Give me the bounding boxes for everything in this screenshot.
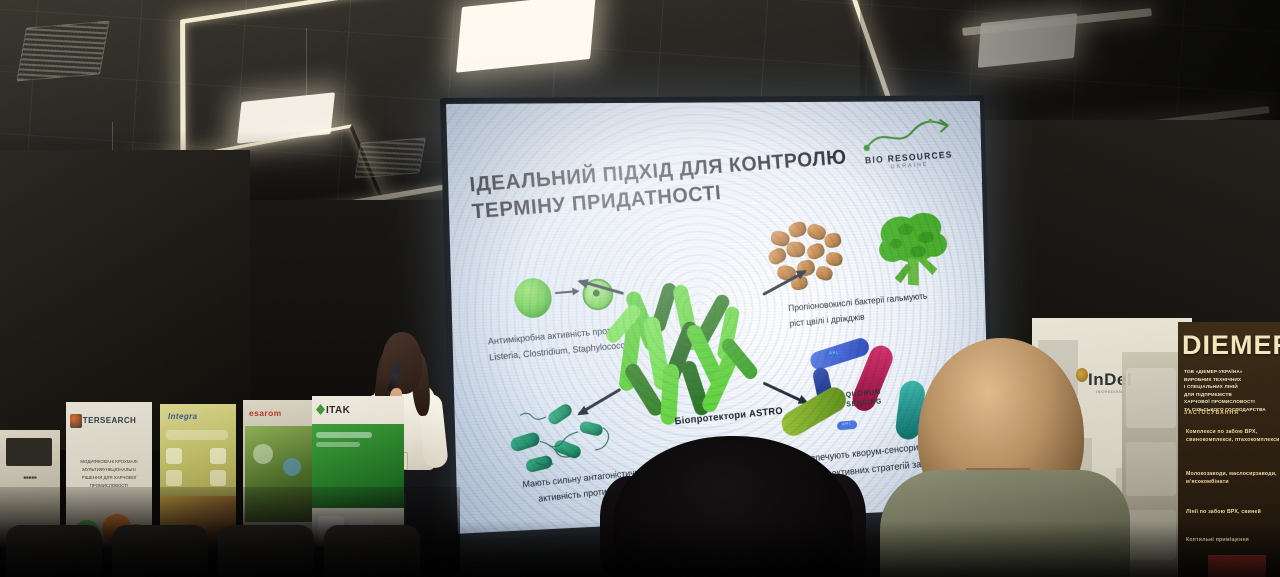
conference-photo: ІДЕАЛЬНИЙ ПІДХІД ДЛЯ КОНТРОЛЮ ТЕРМІНУ ПР… [0,0,1280,577]
banner-list-item: Коптильні приміщення [1186,536,1280,544]
banner-list-item: Комплекси по забою ВРХ, свинокомплекси, … [1186,428,1280,445]
banner-footer-block [1208,555,1266,577]
banner-sub-line: ВИРОБНИК ТЕХНІЧНИХ [1184,376,1280,384]
indel-mark-icon [1076,368,1088,382]
banner-sub-line: ХАРЧОВОЇ ПРОМИСЛОВОСТІ [1184,398,1280,406]
banner-sub-line: ТОВ «ДІЕМЕР-УКРАЇНА» [1184,368,1280,376]
banner-body-line: РІШЕННЯ ДЛЯ ХАРЧОВОЇ [70,474,148,482]
audience-jacket [880,470,1130,577]
banner-list-item: Лінії по забою ВРХ, свиней [1186,508,1280,516]
banner-packaging [1122,352,1182,577]
banner-sub-line: ДЛЯ ПІДПРИЄМСТВ [1184,391,1280,399]
banner-title: DIEMER [1182,330,1280,361]
banner-sub-line: І СПЕЦІАЛЬНИХ ЛІНІЙ [1184,383,1280,391]
banner-body-line: МОДИФІКОВАНІ КРОХМАЛІ [70,458,148,466]
banner-body-line: МУЛЬТИФУНКЦІОНАЛЬНІ [70,466,148,474]
banner-logo-text: Integra [168,412,197,421]
itak-leaf-icon [316,404,325,415]
banner-list-item: Молокозаводи, маслосирзаводи, м'ясокомбі… [1186,470,1280,487]
banner-logo-text: INTERSEARCH [74,416,136,425]
banner-diemer: DIEMER ТОВ «ДІЕМЕР-УКРАЇНА» ВИРОБНИК ТЕХ… [1178,322,1280,577]
banner-logo-text: ITAK [326,405,350,416]
banner-subtitle-block: ТОВ «ДІЕМЕР-УКРАЇНА» ВИРОБНИК ТЕХНІЧНИХ … [1184,368,1280,413]
banner-accent-heading: ЗАСТОСУВАННЯ [1184,410,1239,416]
chair-row [0,487,460,577]
banner-logo-text: esarom [249,408,282,418]
hvac-vent-icon [16,21,109,82]
